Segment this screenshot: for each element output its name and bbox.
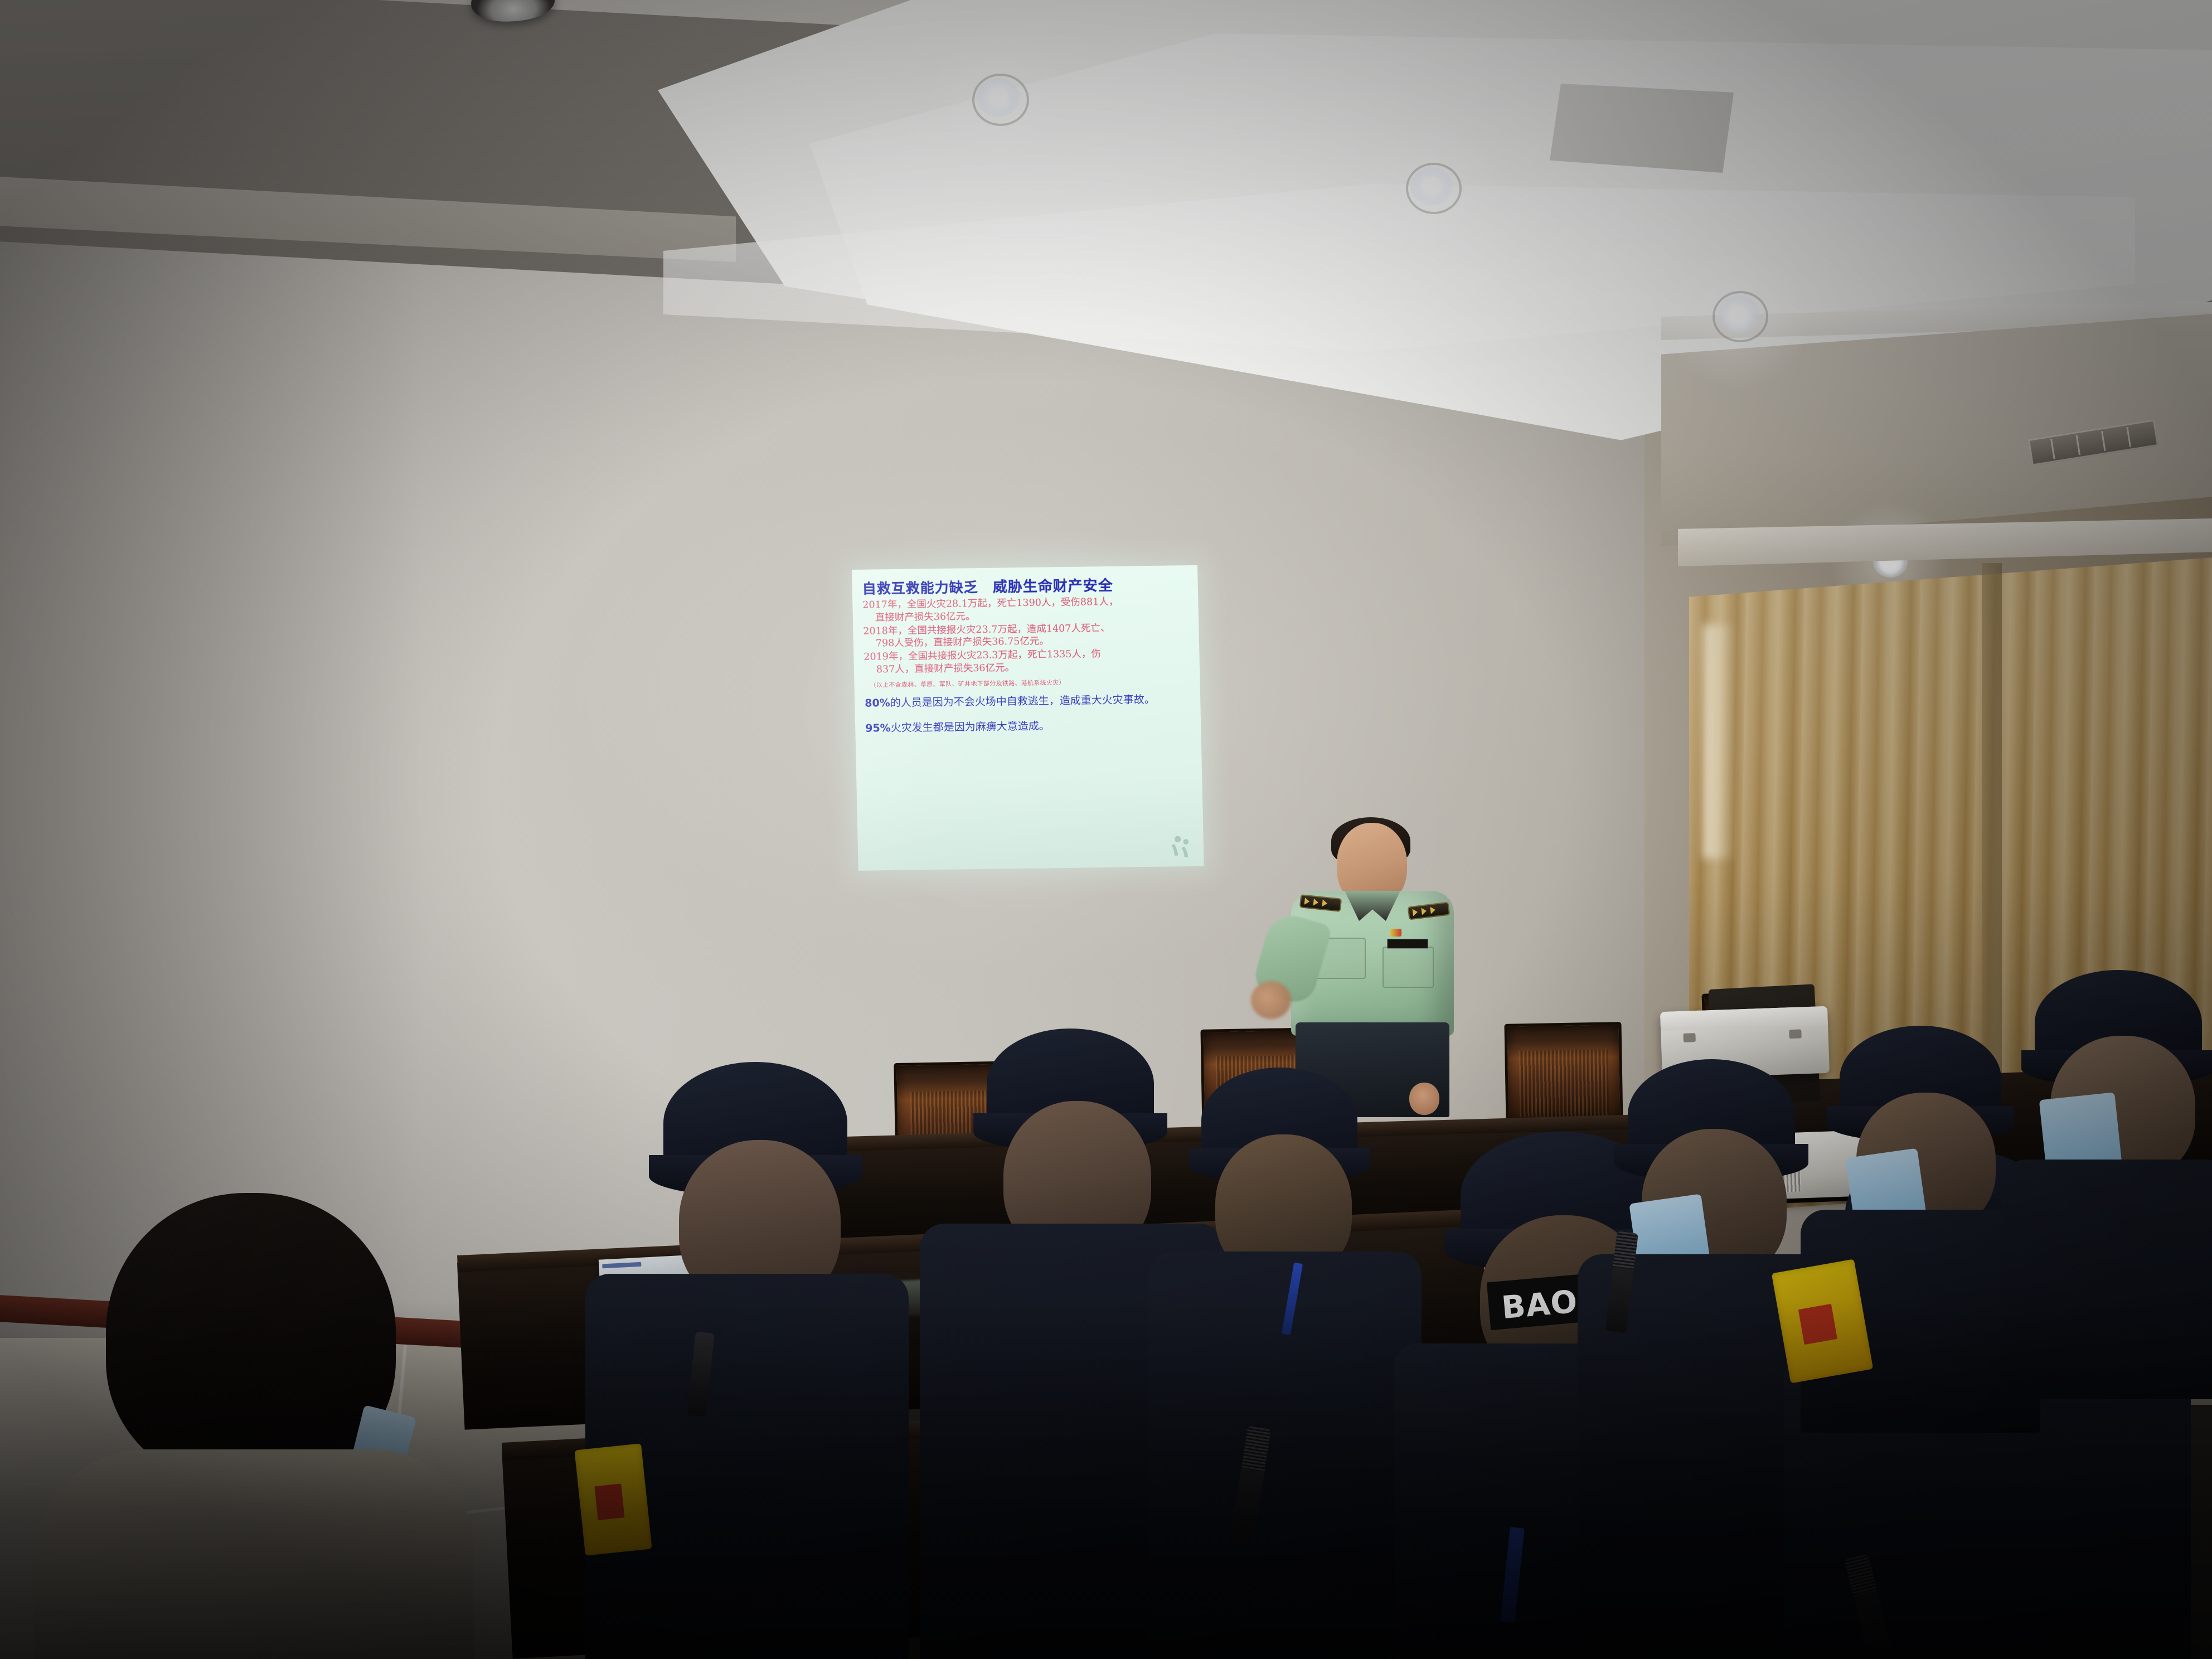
- slide-title: 自救互救能力缺乏 威胁生命财产安全: [862, 573, 1190, 598]
- lecture-room-photo: 自救互救能力缺乏 威胁生命财产安全 2017年，全国火灾28.1万起，死亡139…: [0, 0, 2212, 1659]
- attendee-guard-1: [585, 1062, 898, 1659]
- ceiling-notch: [1550, 84, 1734, 173]
- slide-stat-2017: 2017年，全国火灾28.1万起，死亡1390人，受伤881人， 直接财产损失3…: [862, 595, 1191, 624]
- guard-torso: [2001, 1160, 2212, 1399]
- instructor-nametag: [1387, 939, 1428, 949]
- slide-stat-2019: 2019年，全国共接报火灾23.3万起，死亡1335人，伤 837人，直接财产损…: [864, 647, 1192, 676]
- attendee-guard-7: [1801, 1026, 2035, 1416]
- instructor-hand-right: [1409, 1083, 1439, 1115]
- slide-title-left: 自救互救能力缺乏: [862, 576, 978, 598]
- attendee-torso: [33, 1449, 474, 1659]
- downlight-ring-1: [972, 74, 1029, 126]
- attendee-guard-8: [2001, 970, 2212, 1394]
- instructor: [1271, 797, 1466, 1109]
- slide-fineprint: （以上不含森林、草原、军队、矿井地下部分及铁路、港航系统火灾）: [864, 676, 1192, 690]
- uniform-pocket-right: [1382, 947, 1434, 988]
- slide-bullet-95: 95%火灾发生都是因为麻痹大意造成。: [865, 718, 1193, 735]
- slide-watermark-logo-icon: [1167, 832, 1197, 861]
- attendee-front-left: [33, 1187, 457, 1659]
- slide-title-right: 威胁生命财产安全: [992, 574, 1113, 596]
- attendee-guard-3: [1148, 1068, 1410, 1659]
- downlight-ring-3: [1713, 291, 1768, 342]
- window-light-gap: [1703, 624, 1736, 858]
- downlight-ring-2: [1406, 163, 1462, 214]
- uniform-badge-icon: [1390, 929, 1401, 937]
- instructor-gesturing-hand: [1251, 981, 1291, 1019]
- projected-slide: 自救互救能力缺乏 威胁生命财产安全 2017年，全国火灾28.1万起，死亡139…: [852, 565, 1204, 871]
- attendee-head: [106, 1193, 396, 1483]
- slide-stat-2018: 2018年，全国共接报火灾23.7万起，造成1407人死亡、 798人受伤，直接…: [863, 621, 1191, 651]
- slide-bullet-80: 80%的人员是因为不会火场中自救逃生，造成重大火灾事故。: [865, 693, 1192, 710]
- guard-armband: [574, 1443, 652, 1556]
